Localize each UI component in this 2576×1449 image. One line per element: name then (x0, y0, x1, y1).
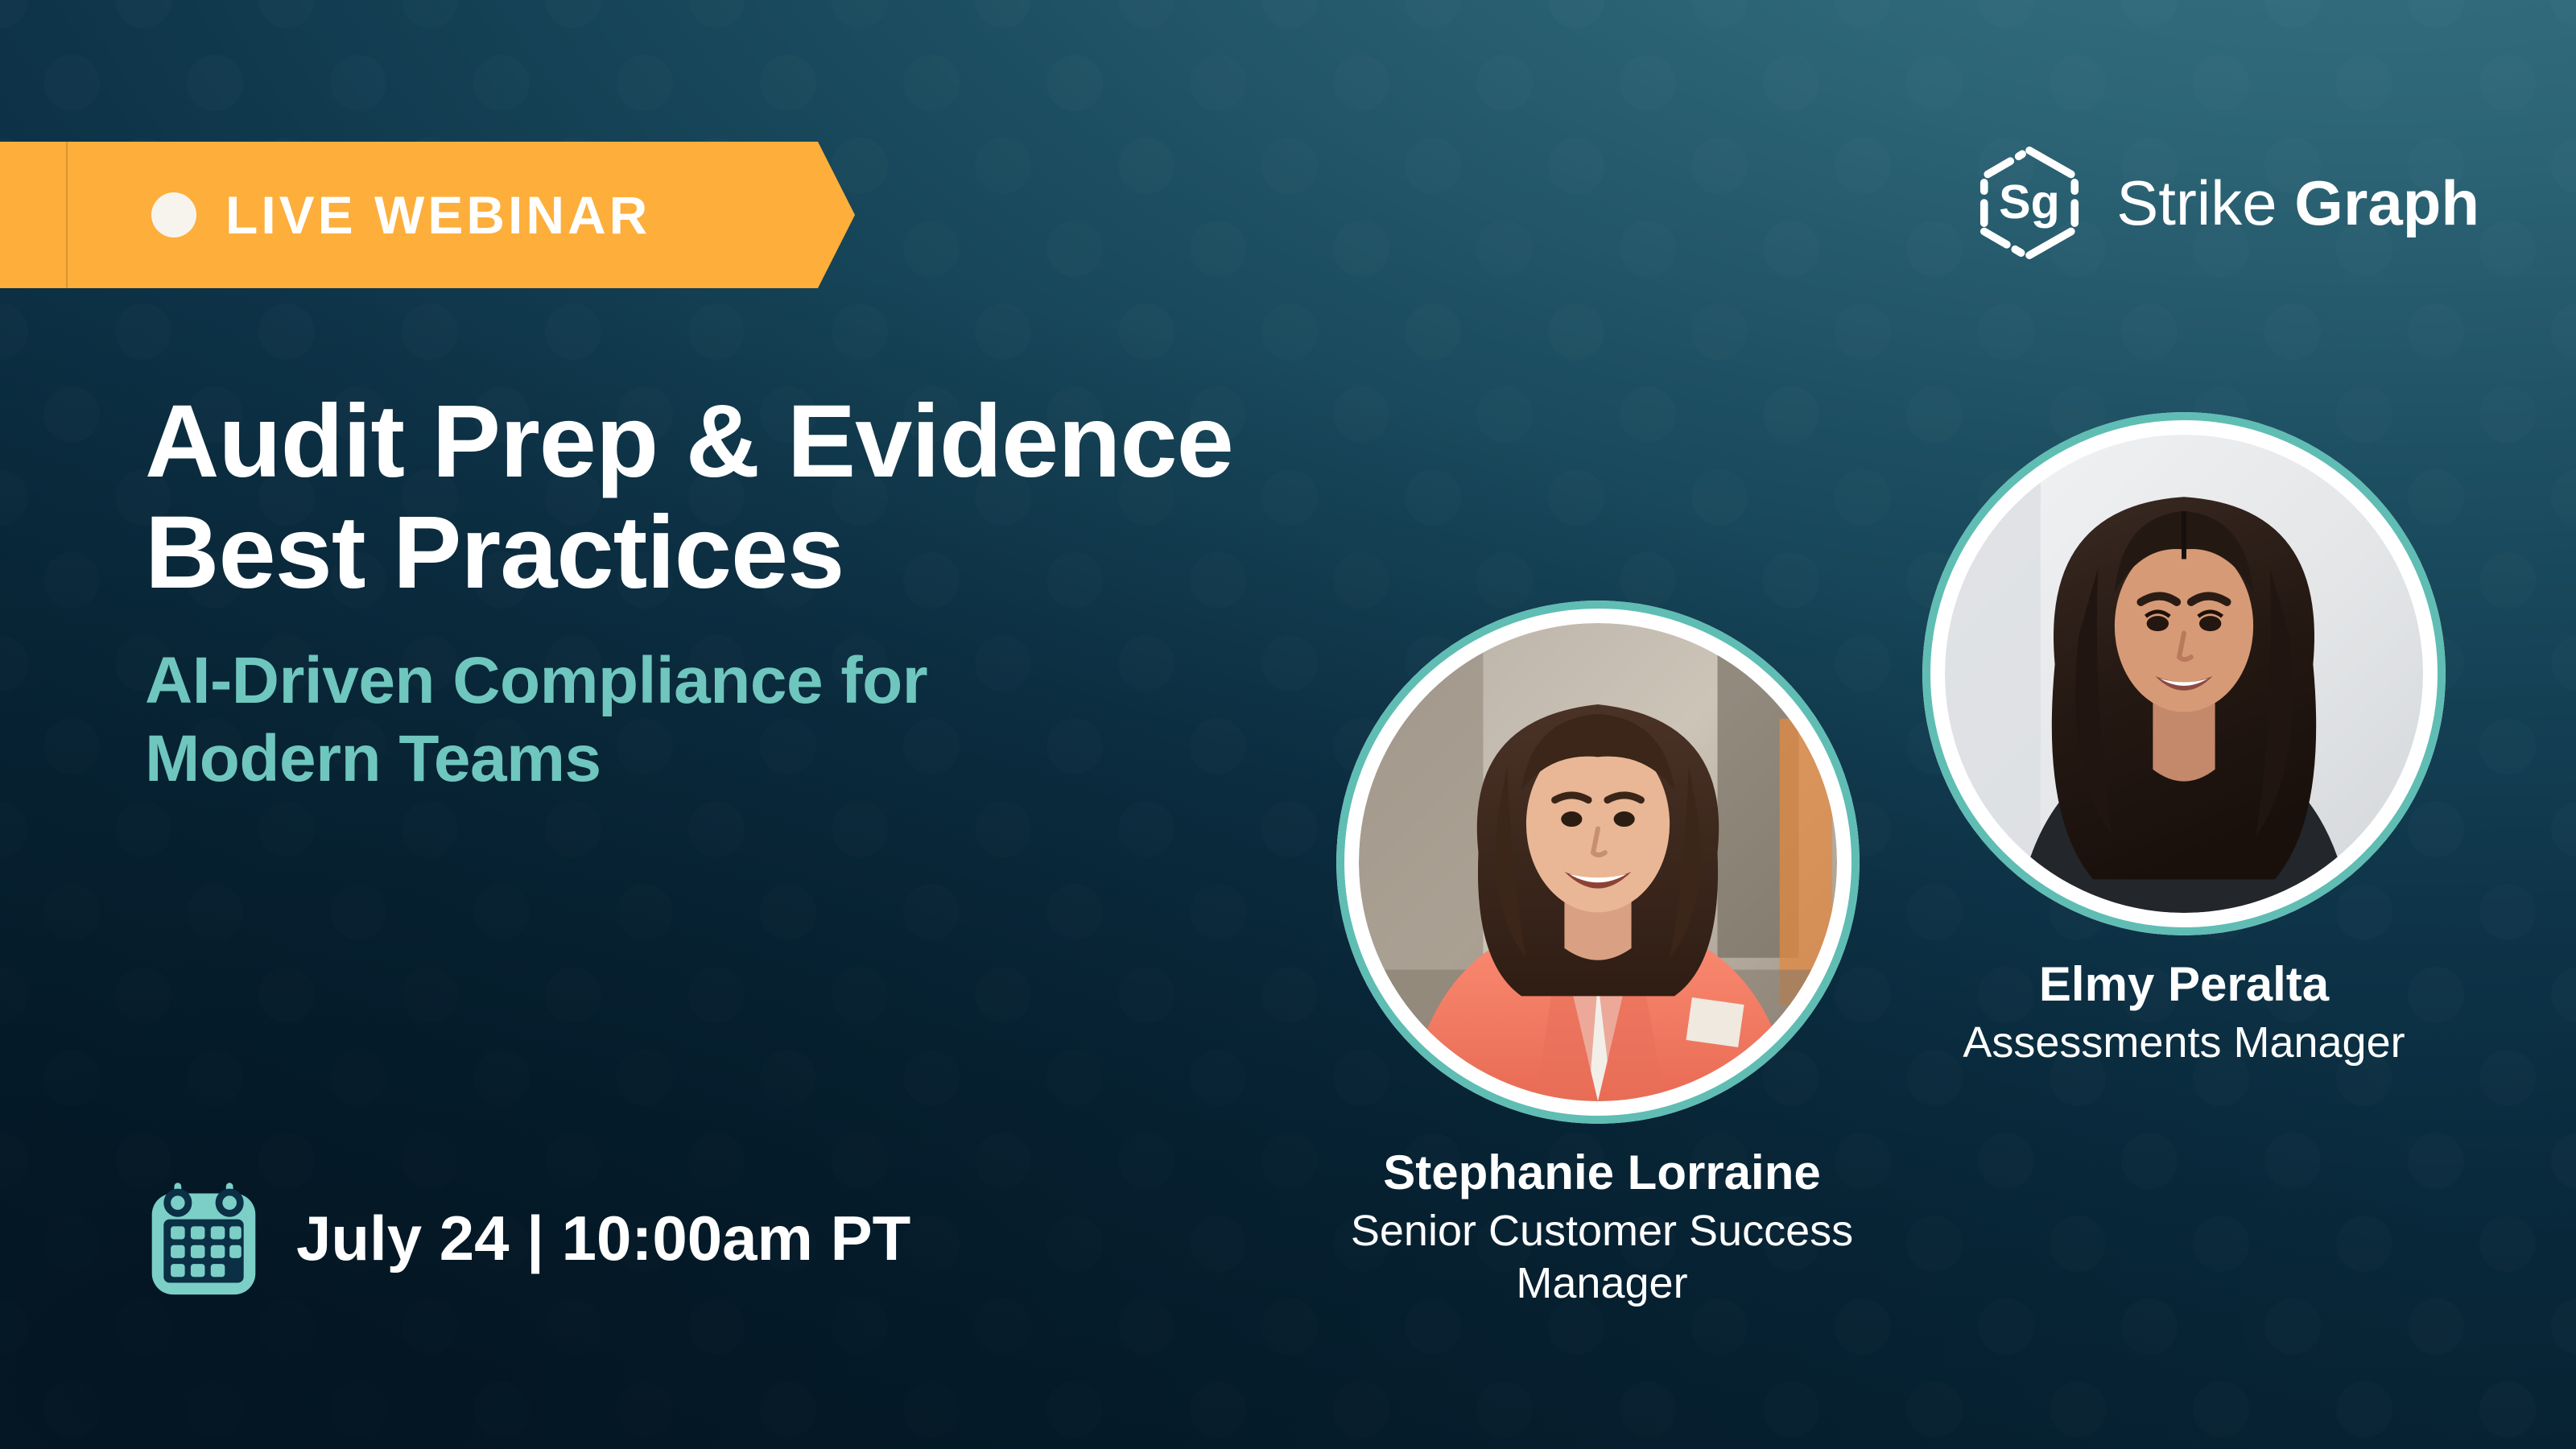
speaker-name: Stephanie Lorraine (1336, 1145, 1868, 1202)
speaker-card-stephanie-lorraine: Stephanie Lorraine Senior Customer Succe… (1336, 601, 1868, 1309)
calendar-icon (147, 1177, 261, 1299)
live-webinar-badge: LIVE WEBINAR (0, 142, 855, 288)
speaker-title: Assessments Manager (1922, 1017, 2446, 1069)
page-title: Audit Prep & Evidence Best Practices (145, 386, 1674, 609)
live-dot-icon (151, 192, 196, 237)
strike-graph-logo: Sg Strike Graph (1970, 143, 2479, 262)
avatar (1922, 412, 2446, 935)
avatar (1336, 601, 1860, 1124)
svg-text:Sg: Sg (1999, 175, 2060, 229)
avatar-outer-ring (1336, 601, 1860, 1124)
speaker-name: Elmy Peralta (1922, 956, 2446, 1013)
brand-name-graph: Graph (2294, 167, 2479, 238)
brand-name-strike: Strike (2116, 167, 2277, 238)
brand-wordmark: Strike Graph (2116, 171, 2479, 234)
ribbon-fold-line (66, 142, 68, 288)
live-webinar-label: LIVE WEBINAR (225, 188, 650, 242)
speaker-title: Senior Customer Success Manager (1336, 1205, 1868, 1310)
event-datetime-label: July 24 | 10:00am PT (296, 1207, 910, 1269)
hexagon-logo-icon: Sg (1970, 143, 2089, 262)
event-datetime-row: July 24 | 10:00am PT (147, 1177, 910, 1299)
avatar-outer-ring (1922, 412, 2446, 935)
webinar-promo-graphic: LIVE WEBINAR Sg Strike Graph Audit Prep (0, 0, 2576, 1449)
speaker-card-elmy-peralta: Elmy Peralta Assessments Manager (1922, 412, 2446, 1069)
